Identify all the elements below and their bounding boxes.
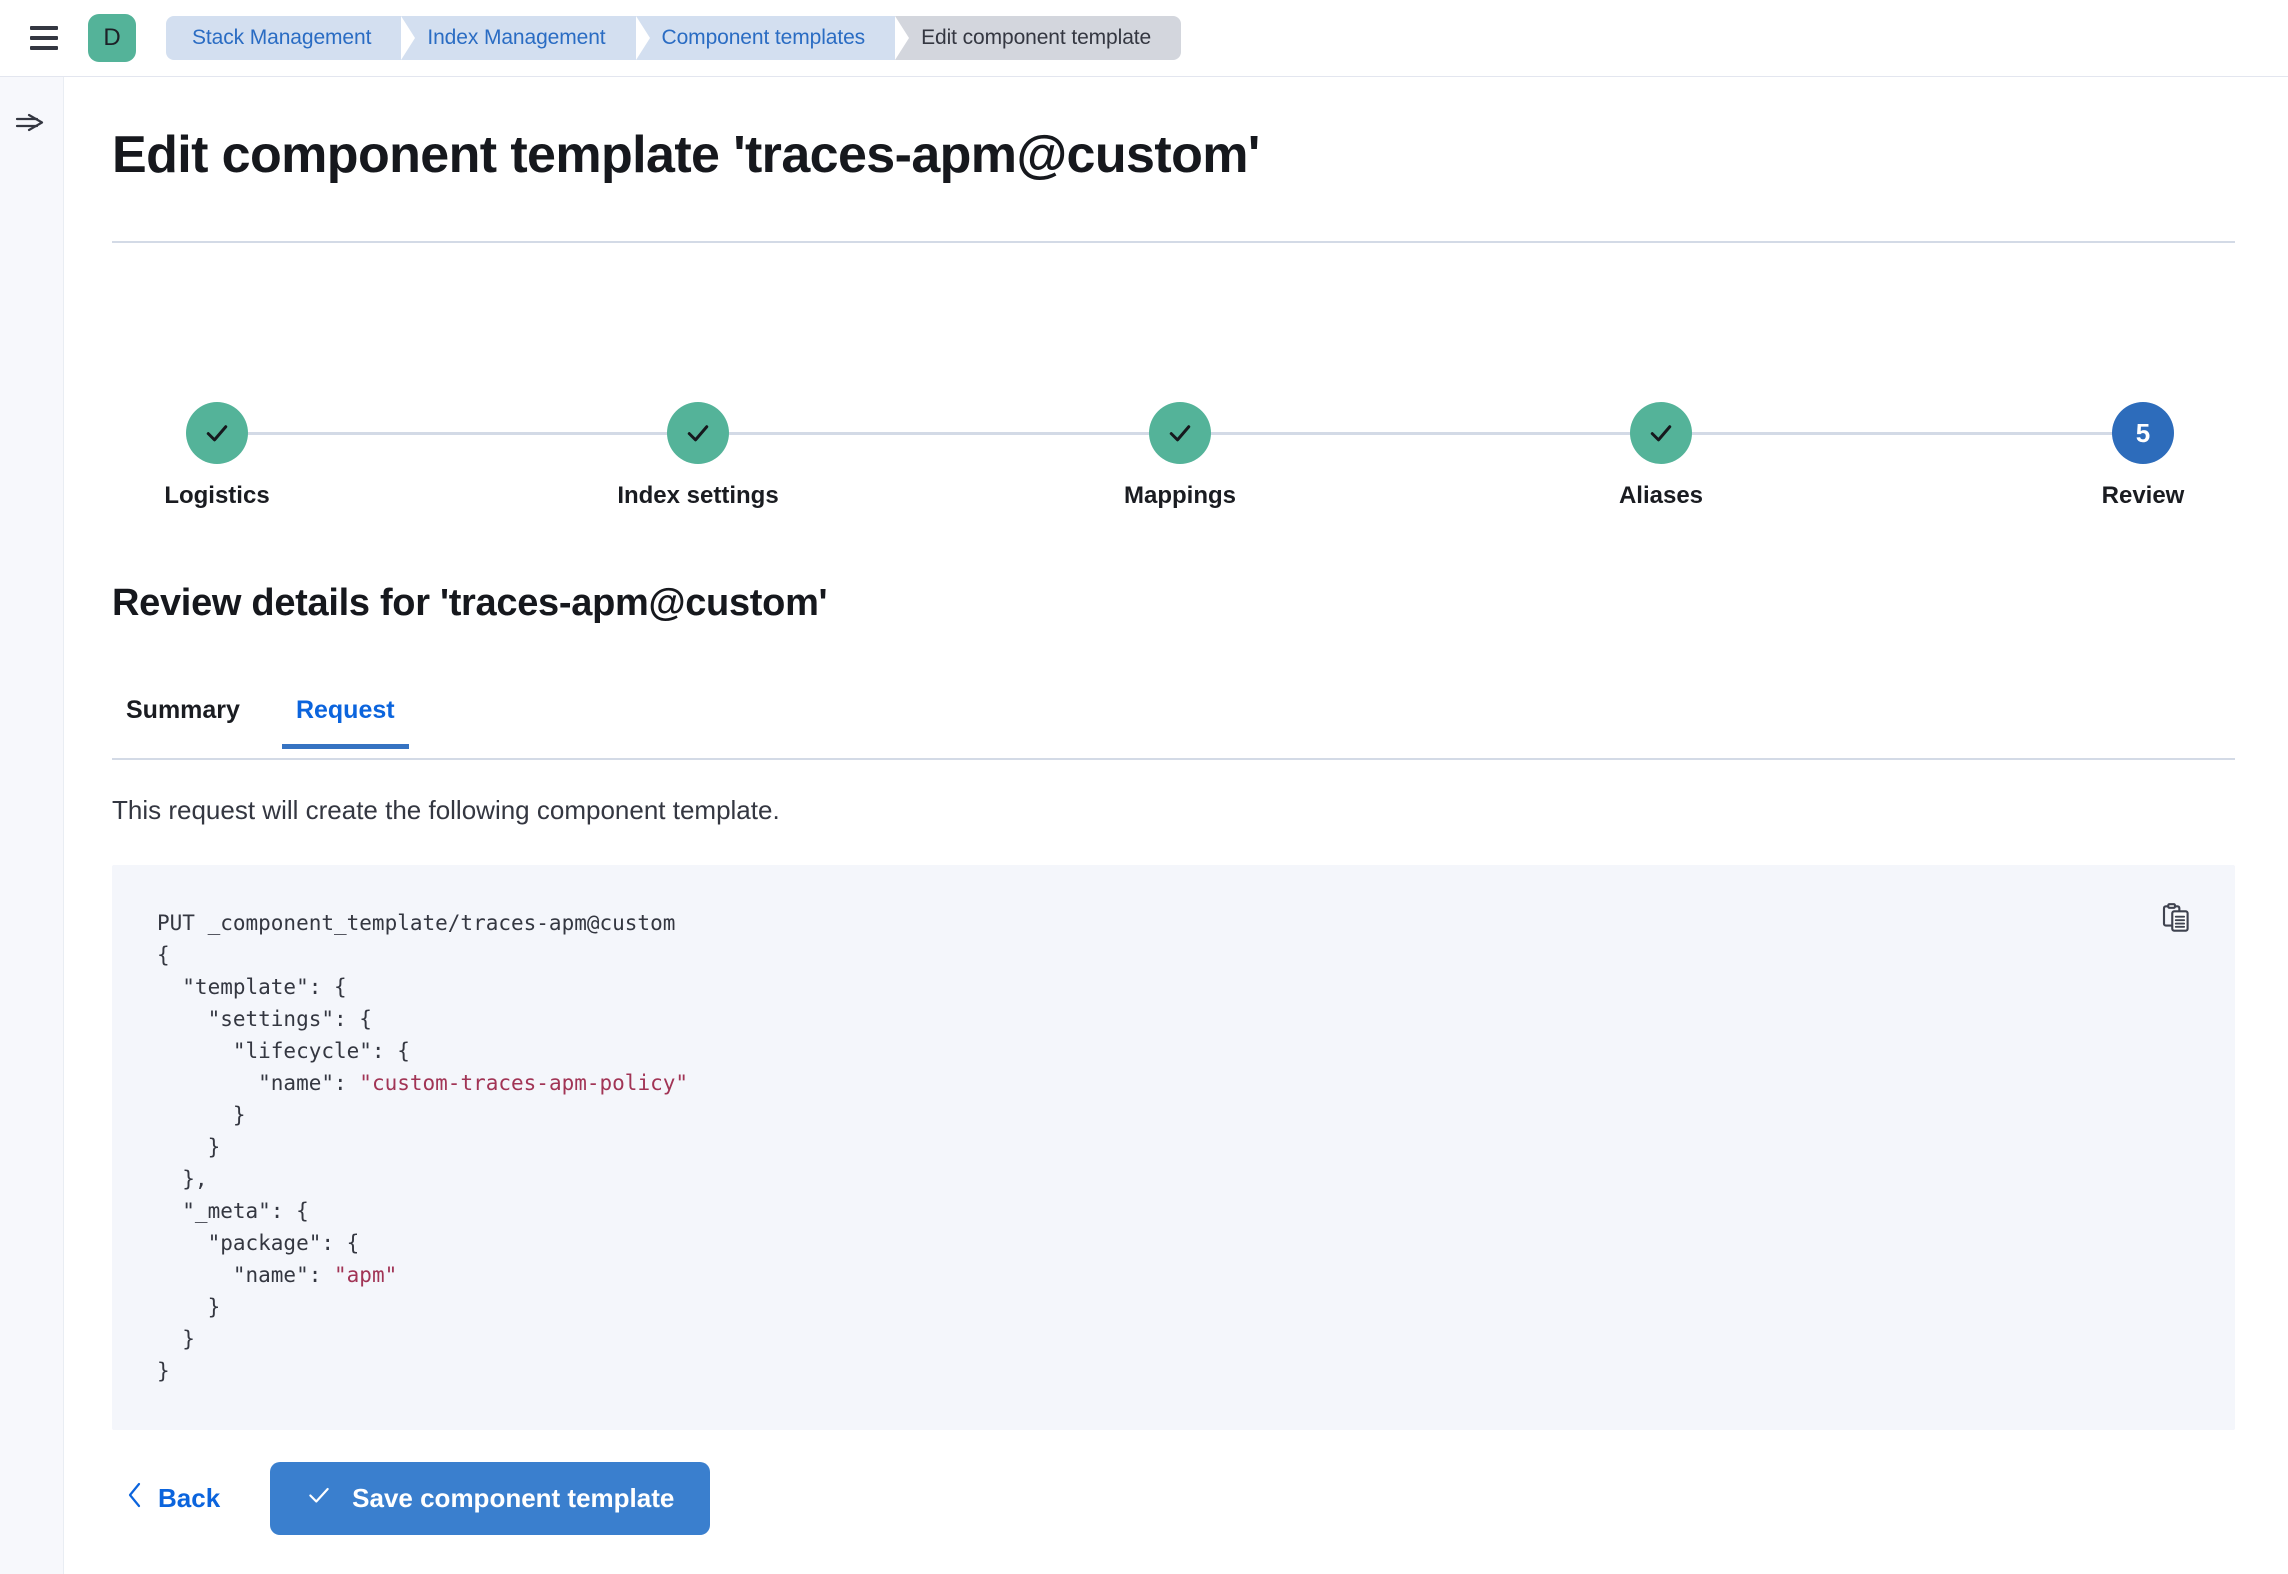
breadcrumb-label: Stack Management xyxy=(192,26,371,50)
check-icon xyxy=(306,1482,332,1515)
request-code-block: PUT _component_template/traces-apm@custo… xyxy=(112,865,2235,1430)
header-divider xyxy=(112,241,2235,243)
step-status-icon xyxy=(667,402,729,464)
review-tabs: Summary Request xyxy=(112,690,2235,760)
tab-summary[interactable]: Summary xyxy=(112,690,254,747)
top-navigation-bar: D Stack Management Index Management Comp… xyxy=(0,0,2288,77)
page-title: Edit component template 'traces-apm@cust… xyxy=(112,125,1260,185)
expand-sidebar-icon[interactable] xyxy=(12,105,52,145)
copy-clipboard-icon[interactable] xyxy=(2153,895,2199,941)
save-label: Save component template xyxy=(352,1483,674,1514)
step-label: Index settings xyxy=(617,482,778,510)
step-status-icon xyxy=(1149,402,1211,464)
save-component-template-button[interactable]: Save component template xyxy=(270,1462,710,1535)
code-string-package-name: "apm" xyxy=(334,1263,397,1287)
breadcrumb-item-index-management[interactable]: Index Management xyxy=(401,16,635,60)
breadcrumb-item-component-templates[interactable]: Component templates xyxy=(636,16,896,60)
step-status-icon xyxy=(186,402,248,464)
tab-label: Summary xyxy=(126,696,240,724)
request-description: This request will create the following c… xyxy=(112,795,780,826)
left-sidebar-rail xyxy=(0,77,64,1574)
back-label: Back xyxy=(158,1483,220,1514)
step-label: Mappings xyxy=(1124,482,1236,510)
step-label: Review xyxy=(2102,482,2185,510)
wizard-stepper: Logistics Index settings Mappings xyxy=(112,322,2235,452)
breadcrumb-label: Index Management xyxy=(427,26,605,50)
hamburger-menu-icon[interactable] xyxy=(22,16,66,60)
breadcrumb-label: Edit component template xyxy=(921,26,1151,50)
wizard-actions: Back Save component template xyxy=(112,1462,710,1535)
section-title: Review details for 'traces-apm@custom' xyxy=(112,582,827,625)
step-status-icon xyxy=(1630,402,1692,464)
request-code-text: PUT _component_template/traces-apm@custo… xyxy=(157,907,688,1387)
step-label: Logistics xyxy=(164,482,269,510)
code-string-lifecycle-name: "custom-traces-apm-policy" xyxy=(359,1071,688,1095)
breadcrumb-label: Component templates xyxy=(662,26,866,50)
step-index-settings[interactable]: Index settings xyxy=(598,402,798,510)
breadcrumb: Stack Management Index Management Compon… xyxy=(166,16,1181,60)
step-review[interactable]: 5 Review xyxy=(2043,402,2243,510)
step-logistics[interactable]: Logistics xyxy=(117,402,317,510)
step-aliases[interactable]: Aliases xyxy=(1561,402,1761,510)
back-button[interactable]: Back xyxy=(112,1471,234,1526)
main-content: Edit component template 'traces-apm@cust… xyxy=(65,77,2288,1574)
step-number: 5 xyxy=(2136,418,2150,449)
avatar-letter: D xyxy=(103,24,120,52)
step-status-number: 5 xyxy=(2112,402,2174,464)
breadcrumb-item-stack-management[interactable]: Stack Management xyxy=(166,16,401,60)
tab-request[interactable]: Request xyxy=(282,690,409,747)
tab-label: Request xyxy=(296,696,395,724)
step-mappings[interactable]: Mappings xyxy=(1080,402,1280,510)
breadcrumb-item-edit-component-template: Edit component template xyxy=(895,16,1181,60)
step-label: Aliases xyxy=(1619,482,1703,510)
chevron-left-icon xyxy=(126,1481,144,1516)
avatar[interactable]: D xyxy=(88,14,136,62)
code-request-line: PUT _component_template/traces-apm@custo… xyxy=(157,911,675,935)
